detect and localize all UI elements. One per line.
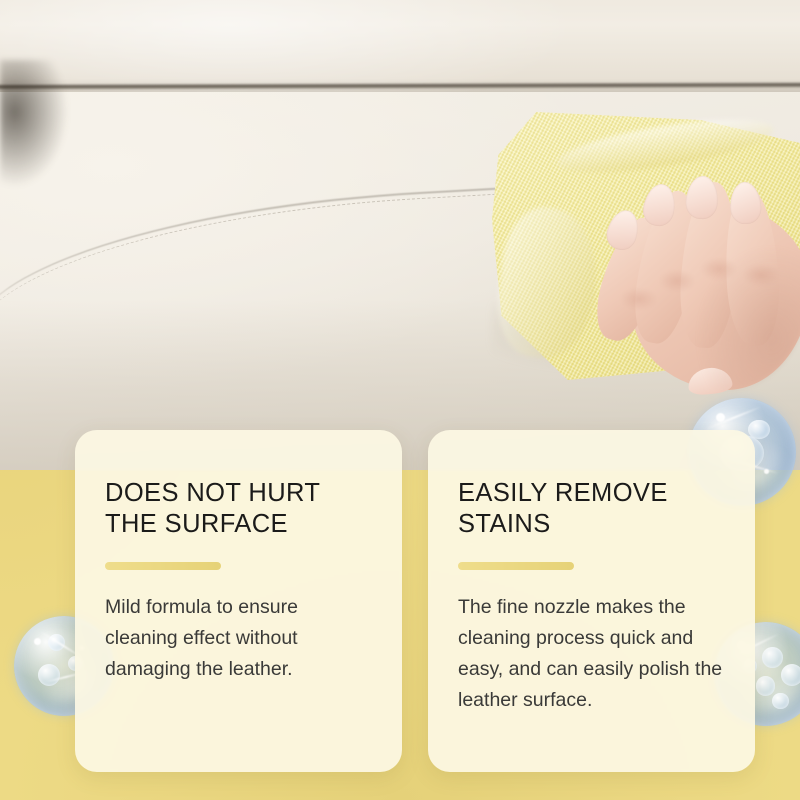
feature-card-easily-remove-stains: EASILY REMOVE STAINS The fine nozzle mak… xyxy=(428,430,755,772)
feature-card-does-not-hurt-the-surface: DOES NOT HURT THE SURFACE Mild formula t… xyxy=(75,430,402,772)
marketing-banner: DOES NOT HURT THE SURFACE Mild formula t… xyxy=(0,0,800,800)
feature-card-heading: EASILY REMOVE STAINS xyxy=(458,478,725,540)
sofa-left-shadow xyxy=(0,60,74,190)
hand xyxy=(560,150,800,390)
feature-card-heading: DOES NOT HURT THE SURFACE xyxy=(105,478,372,540)
sofa-back-highlight xyxy=(0,0,800,92)
feature-card-divider xyxy=(458,562,574,570)
feature-card-divider xyxy=(105,562,221,570)
hand-shading xyxy=(632,202,800,390)
sofa-cleaning-photo xyxy=(0,0,800,470)
feature-card-body: The fine nozzle makes the cleaning proce… xyxy=(458,592,725,715)
feature-card-body: Mild formula to ensure cleaning effect w… xyxy=(105,592,372,684)
